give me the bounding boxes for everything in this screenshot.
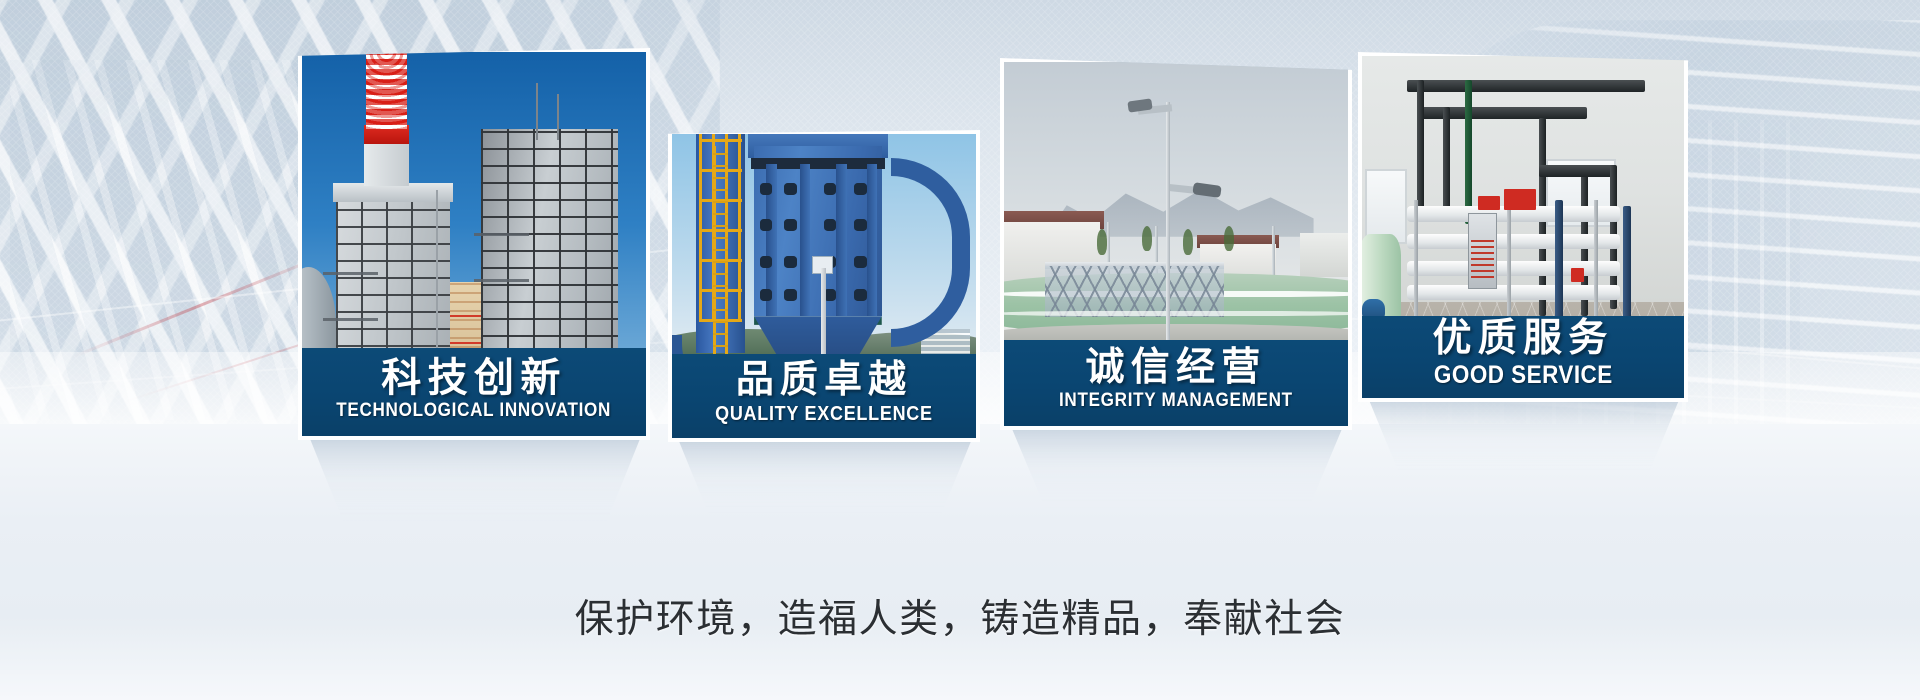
value-panel-technological-innovation[interactable]: 科技创新 TECHNOLOGICAL INNOVATION [298, 48, 650, 440]
photo2-valve-15 [824, 289, 836, 301]
photo2-valve-10 [784, 256, 796, 268]
photo2-duct-upper [891, 158, 970, 346]
photo3-tree-2 [1142, 226, 1152, 251]
company-slogan: 保护环境，造福人类，铸造精品，奉献社会 [0, 588, 1920, 644]
photo1-platform-1 [323, 272, 378, 275]
photo2-valve-16 [854, 289, 866, 301]
photo3-tree-1 [1097, 229, 1107, 254]
photo2-valve-1 [760, 183, 772, 195]
panel-1-caption: 科技创新 TECHNOLOGICAL INNOVATION [302, 348, 646, 436]
photo2-valve-13 [760, 289, 772, 301]
photo1-platform-4 [474, 279, 529, 282]
photo4-warning-sign-1 [1478, 196, 1501, 210]
photo4-frame-right [1594, 200, 1599, 330]
panel-4-inner: 优质服务 GOOD SERVICE [1362, 56, 1684, 398]
panel-3-title-cn: 诚信经营 [1086, 348, 1267, 389]
banner-stage: 科技创新 TECHNOLOGICAL INNOVATION [0, 0, 1920, 700]
panel-4-caption: 优质服务 GOOD SERVICE [1362, 316, 1684, 398]
photo4-frame-left [1414, 200, 1419, 330]
photo3-tree-3 [1183, 229, 1193, 254]
photo4-warning-sign-2 [1504, 189, 1536, 210]
photo4-blue-pipe-1 [1555, 200, 1563, 323]
panel-4-title-en: GOOD SERVICE [1434, 362, 1613, 390]
photo3-bridge-truss [1045, 266, 1224, 317]
photo1-mast-2 [557, 94, 559, 140]
photo4-riser-2 [1443, 107, 1450, 216]
panel-2-inner: 品质卓越 QUALITY EXCELLENCE [672, 134, 976, 438]
photo1-platform-3 [474, 233, 529, 236]
value-panel-good-service[interactable]: 优质服务 GOOD SERVICE [1358, 52, 1688, 402]
value-panel-quality-excellence[interactable]: 品质卓越 QUALITY EXCELLENCE [668, 130, 980, 442]
panel-2-caption: 品质卓越 QUALITY EXCELLENCE [672, 354, 976, 438]
panel-2-title-en: QUALITY EXCELLENCE [715, 403, 933, 425]
photo3-building-far-right [1300, 233, 1348, 277]
photo2-rib-4 [867, 164, 878, 316]
photo4-window-left [1365, 169, 1407, 244]
panel-3-caption: 诚信经营 INTEGRITY MANAGEMENT [1004, 340, 1348, 426]
value-panel-integrity-management[interactable]: 诚信经营 INTEGRITY MANAGEMENT [1000, 58, 1352, 430]
photo4-membrane-vessel-2 [1407, 234, 1620, 249]
photo2-valve-8 [854, 219, 866, 231]
photo2-ladder-rungs [713, 146, 728, 383]
photo4-green-riser [1465, 80, 1472, 224]
photo4-membrane-vessel-3 [1407, 261, 1620, 276]
photo4-gauge-array [1471, 237, 1494, 278]
photo4-blue-pipe-2 [1623, 206, 1631, 322]
panel-1-title-en: TECHNOLOGICAL INNOVATION [337, 401, 612, 422]
photo2-rib-2 [800, 164, 811, 316]
panel-1-title-cn: 科技创新 [381, 357, 567, 399]
photo2-valve-3 [824, 183, 836, 195]
photo2-valve-12 [854, 256, 866, 268]
panel-4-title-cn: 优质服务 [1433, 319, 1614, 360]
photo4-header-pipe [1539, 165, 1616, 177]
panel-3-title-en: INTEGRITY MANAGEMENT [1059, 391, 1293, 412]
photo2-valve-2 [784, 183, 796, 195]
panel-3-inner: 诚信经营 INTEGRITY MANAGEMENT [1004, 62, 1348, 426]
photo4-warning-sign-3 [1571, 268, 1584, 282]
photo2-valve-7 [824, 219, 836, 231]
photo2-valve-9 [760, 256, 772, 268]
photo2-valve-14 [784, 289, 796, 301]
photo3-handrail-inner [1004, 311, 1348, 315]
photo4-riser-1 [1417, 80, 1424, 217]
photo1-chimney-stack [366, 52, 407, 129]
photo1-mast-1 [536, 83, 538, 141]
photo2-valve-4 [854, 183, 866, 195]
photo1-platform-2 [323, 318, 378, 321]
panel-2-title-cn: 品质卓越 [736, 361, 912, 401]
photo2-valve-5 [760, 219, 772, 231]
photo2-valve-6 [784, 219, 796, 231]
photo3-lamp-small-3 [1272, 226, 1275, 281]
panel-1-inner: 科技创新 TECHNOLOGICAL INNOVATION [302, 52, 646, 436]
photo4-ceiling-pipe-1 [1407, 80, 1645, 92]
photo4-membrane-vessel-4 [1407, 285, 1620, 300]
photo4-frame-mid [1507, 200, 1512, 330]
photo2-rib-3 [836, 164, 847, 316]
